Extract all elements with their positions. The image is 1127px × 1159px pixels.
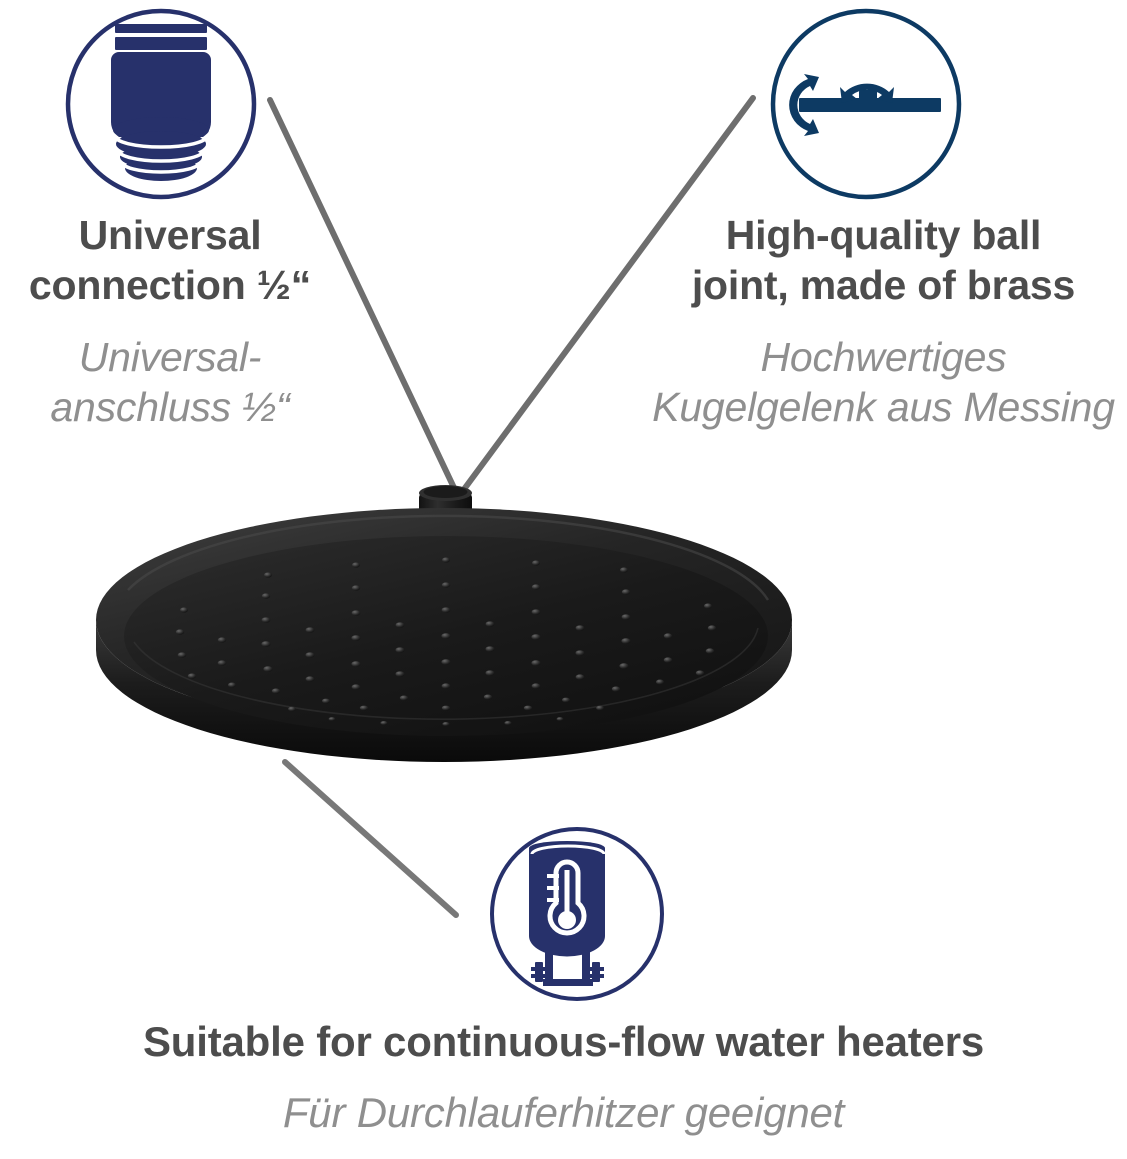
feature-balljoint-label-en: High-quality ball joint, made of brass: [640, 210, 1127, 310]
ball-joint-rotation-icon: [768, 6, 964, 202]
feature-continuous-flow-heater: Suitable for continuous-flow water heate…: [0, 1016, 1127, 1138]
feature-universal-label-de: Universal- anschluss ½“: [0, 332, 340, 432]
feature-universal-label-en: Universal connection ½“: [0, 210, 340, 310]
feature-heater-label-en: Suitable for continuous-flow water heate…: [0, 1016, 1127, 1067]
feature-ball-joint: High-quality ball joint, made of brass H…: [640, 210, 1127, 432]
feature-heater-label-de: Für Durchlauferhitzer geeignet: [0, 1087, 1127, 1138]
feature-universal-connection: Universal connection ½“ Universal- ansch…: [0, 210, 340, 432]
rain-shower-head-image: [88, 470, 800, 780]
leader-line-waterheater: [285, 762, 456, 915]
water-heater-thermometer-icon: [487, 824, 667, 1004]
infographic-canvas: Universal connection ½“ Universal- ansch…: [0, 0, 1127, 1159]
threaded-connector-icon: [63, 6, 259, 202]
feature-balljoint-label-de: Hochwertiges Kugelgelenk aus Messing: [640, 332, 1127, 432]
